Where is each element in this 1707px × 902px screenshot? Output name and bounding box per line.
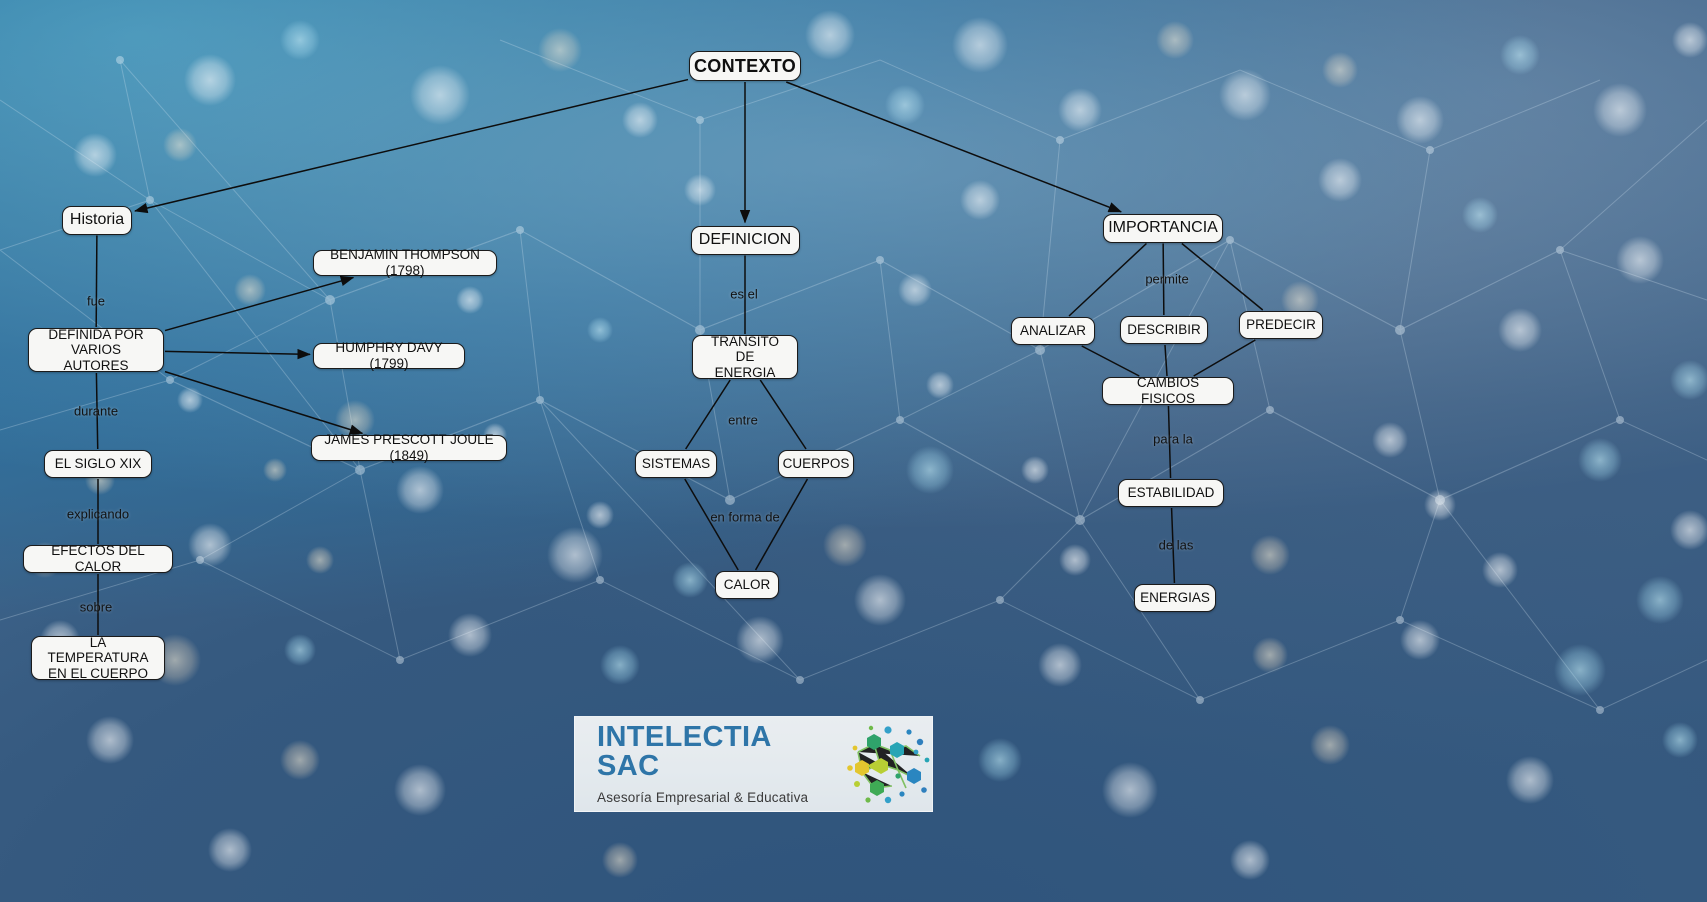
logo-text-block: INTELECTIA SAC Asesoría Empresarial & Ed… <box>575 723 828 805</box>
concept-node-transito[interactable]: TRANSITO DE ENERGIA <box>692 335 798 379</box>
concept-node-historia[interactable]: Historia <box>62 206 132 235</box>
logo-title: INTELECTIA SAC <box>597 723 828 781</box>
concept-node-cuerpos[interactable]: CUERPOS <box>778 450 854 478</box>
concept-node-analizar[interactable]: ANALIZAR <box>1011 317 1095 345</box>
link-label-entre: entre <box>728 413 758 428</box>
edge-historia-to-definida <box>96 236 97 328</box>
edge-predecir-to-cambios <box>1194 340 1256 376</box>
concept-node-joule[interactable]: JAMES PRESCOTT JOULE (1849) <box>311 435 507 461</box>
concept-node-definicion[interactable]: DEFINICION <box>691 226 800 255</box>
concept-node-cambios[interactable]: CAMBIOS FISICOS <box>1102 377 1234 405</box>
link-label-explicando: explicando <box>67 507 129 522</box>
concept-node-benjamin[interactable]: BENJAMIN THOMPSON (1798) <box>313 250 497 276</box>
concept-node-predecir[interactable]: PREDECIR <box>1239 311 1323 339</box>
edge-definida-to-joule <box>165 372 362 434</box>
link-label-fue: fue <box>87 294 105 309</box>
concept-node-definida[interactable]: DEFINIDA POR VARIOS AUTORES <box>28 328 164 372</box>
concept-node-efectos[interactable]: EFECTOS DEL CALOR <box>23 545 173 573</box>
edge-sistemas-to-calor <box>685 479 738 570</box>
concept-node-temperatura[interactable]: LA TEMPERATURA EN EL CUERPO <box>31 636 165 680</box>
edge-cuerpos-to-calor <box>756 479 808 570</box>
link-label-en-forma-de: en forma de <box>710 510 779 525</box>
concept-node-importancia[interactable]: IMPORTANCIA <box>1103 214 1223 243</box>
edge-describir-to-cambios <box>1165 345 1167 376</box>
edge-importancia-to-predecir <box>1182 244 1263 311</box>
concept-map-canvas: CONTEXTOHistoriaDEFINICIONIMPORTANCIADEF… <box>0 0 1707 902</box>
edge-definida-to-benjamin <box>165 278 353 331</box>
edge-transito-to-cuerpos <box>760 380 806 449</box>
concept-node-humphry[interactable]: HUMPHRY DAVY (1799) <box>313 343 465 369</box>
link-label-de-las: de las <box>1159 538 1194 553</box>
edge-definida-to-humphry <box>165 351 310 354</box>
edge-analizar-to-cambios <box>1082 346 1140 376</box>
concept-node-siglo[interactable]: EL SIGLO XIX <box>44 450 152 478</box>
link-label-sobre: sobre <box>80 600 113 615</box>
concept-node-energias[interactable]: ENERGIAS <box>1134 584 1216 612</box>
link-label-es-el: es el <box>730 287 757 302</box>
concept-node-sistemas[interactable]: SISTEMAS <box>635 450 717 478</box>
edge-transito-to-sistemas <box>686 380 730 449</box>
link-label-permite: permite <box>1145 272 1188 287</box>
intelectia-sac-logo: INTELECTIA SAC Asesoría Empresarial & Ed… <box>574 716 933 812</box>
concept-node-describir[interactable]: DESCRIBIR <box>1120 316 1208 344</box>
concept-node-estabilidad[interactable]: ESTABILIDAD <box>1118 479 1224 507</box>
link-label-durante: durante <box>74 404 118 419</box>
link-label-para-la: para la <box>1153 432 1193 447</box>
molecule-network-icon <box>828 716 932 812</box>
edge-contexto-to-historia <box>135 80 688 211</box>
concept-node-calor[interactable]: CALOR <box>715 571 779 599</box>
concept-node-contexto[interactable]: CONTEXTO <box>689 51 801 81</box>
logo-subtitle: Asesoría Empresarial & Educativa <box>597 790 828 805</box>
edge-importancia-to-analizar <box>1069 244 1146 317</box>
edge-contexto-to-importancia <box>786 82 1121 212</box>
